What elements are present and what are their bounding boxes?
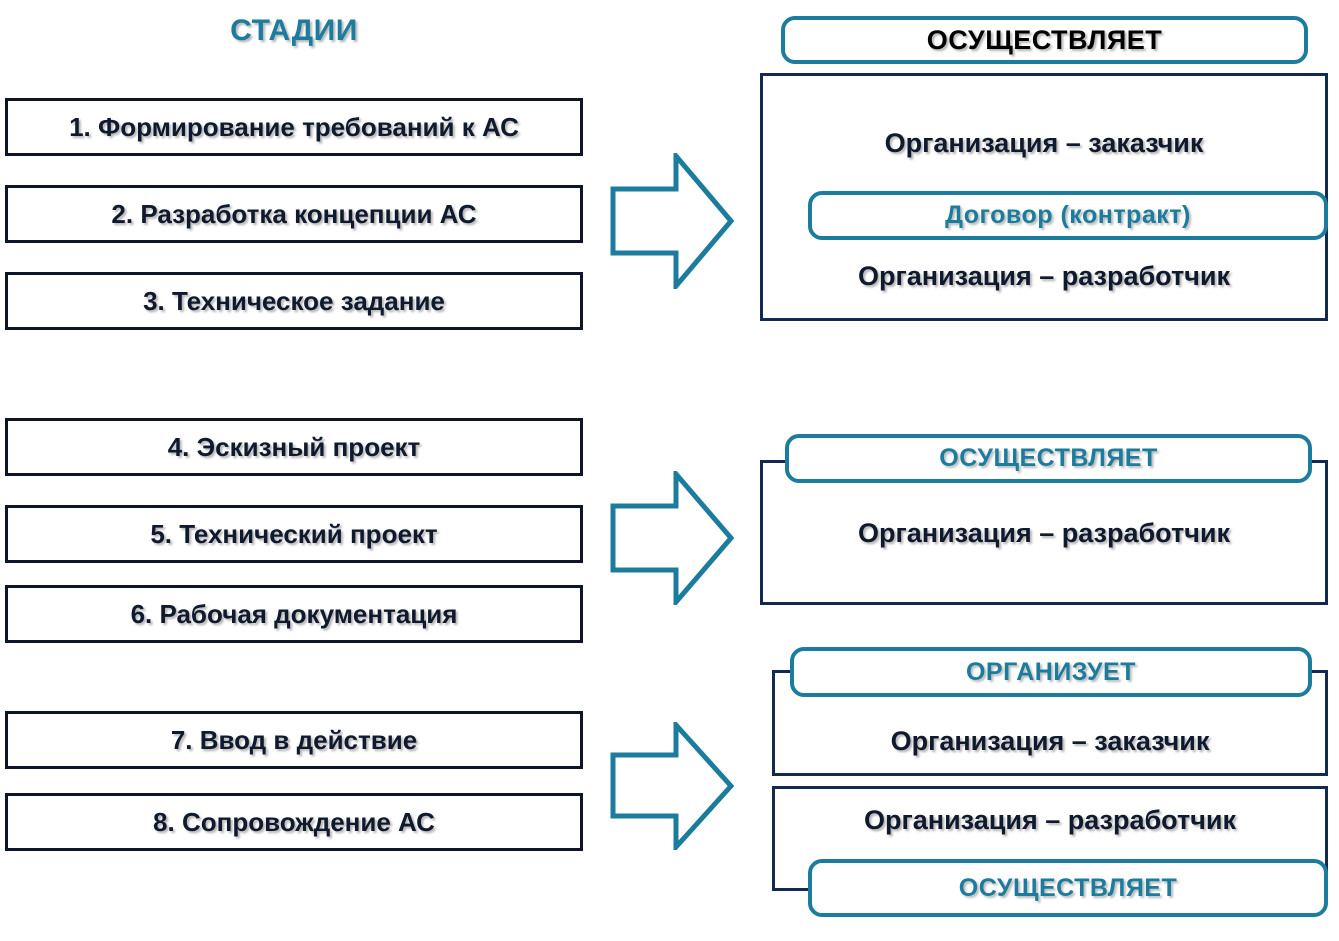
group1-actor-developer: Организация – разработчик (760, 261, 1328, 292)
arrow-right-icon-1 (610, 153, 734, 289)
group2-header-label: ОСУЩЕСТВЛЯЕТ (939, 444, 1157, 473)
group1-actor-customer: Организация – заказчик (760, 128, 1328, 159)
stage-label-1: 1. Формирование требований к АС (69, 112, 519, 143)
group3-header-box[interactable]: ОРГАНИЗУЕТ (790, 647, 1312, 697)
group3-actor-customer: Организация – заказчик (772, 726, 1328, 757)
group1-header-label: ОСУЩЕСТВЛЯЕТ (927, 25, 1162, 56)
stage-box-3[interactable]: 3. Техническое задание (5, 272, 583, 330)
group1-header-box[interactable]: ОСУЩЕСТВЛЯЕТ (781, 16, 1308, 64)
group3-footer-label: ОСУЩЕСТВЛЯЕТ (959, 874, 1177, 903)
arrow-right-icon-2 (610, 471, 734, 605)
group2-header-box[interactable]: ОСУЩЕСТВЛЯЕТ (785, 434, 1312, 483)
group2-actor-developer: Организация – разработчик (760, 518, 1328, 549)
group1-contract-label: Договор (контракт) (945, 201, 1191, 230)
stage-box-1[interactable]: 1. Формирование требований к АС (5, 98, 583, 156)
stage-box-7[interactable]: 7. Ввод в действие (5, 711, 583, 769)
stage-box-8[interactable]: 8. Сопровождение АС (5, 793, 583, 851)
group3-header-label: ОРГАНИЗУЕТ (966, 658, 1136, 687)
stage-box-6[interactable]: 6. Рабочая документация (5, 585, 583, 643)
diagram-canvas: СТАДИИ 1. Формирование требований к АС 2… (0, 0, 1339, 941)
stage-label-6: 6. Рабочая документация (131, 599, 458, 630)
stage-label-2: 2. Разработка концепции АС (111, 199, 476, 230)
page-title: СТАДИИ (5, 14, 583, 48)
stage-label-3: 3. Техническое задание (143, 286, 445, 317)
stage-label-7: 7. Ввод в действие (171, 725, 417, 756)
stage-box-4[interactable]: 4. Эскизный проект (5, 418, 583, 476)
group3-actor-developer: Организация – разработчик (772, 805, 1328, 836)
stage-label-4: 4. Эскизный проект (168, 432, 421, 463)
stage-box-2[interactable]: 2. Разработка концепции АС (5, 185, 583, 243)
stage-box-5[interactable]: 5. Технический проект (5, 505, 583, 563)
group3-footer-box[interactable]: ОСУЩЕСТВЛЯЕТ (808, 859, 1328, 917)
group1-contract-box[interactable]: Договор (контракт) (808, 191, 1328, 240)
arrow-right-icon-3 (610, 722, 734, 850)
stage-label-5: 5. Технический проект (150, 519, 437, 550)
stage-label-8: 8. Сопровождение АС (153, 807, 435, 838)
